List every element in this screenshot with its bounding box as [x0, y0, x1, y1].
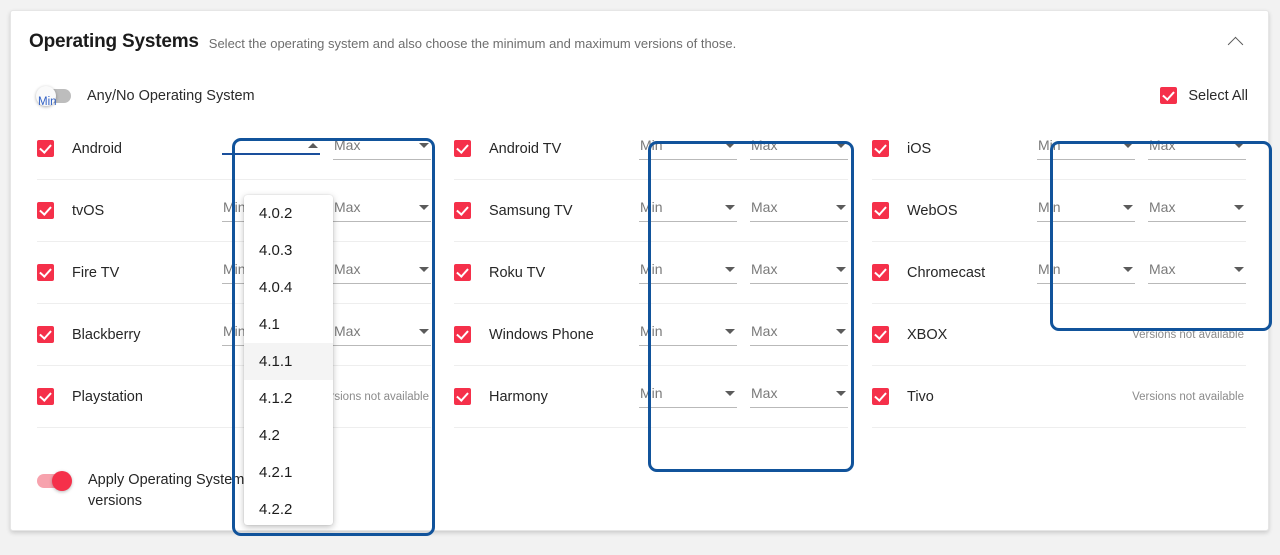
os-row: ChromecastMinMax [872, 242, 1246, 304]
os-columns: AndroidMinMaxtvOSMinMaxFire TVMinMaxBlac… [11, 118, 1268, 530]
os-column-1: AndroidMinMaxtvOSMinMaxFire TVMinMaxBlac… [37, 118, 431, 428]
min-version-placeholder: Min [640, 137, 663, 153]
min-version-select[interactable]: Min [639, 261, 737, 284]
chevron-down-icon [725, 143, 735, 148]
any-no-os-label: Any/No Operating System [87, 88, 255, 104]
os-checkbox-blackberry[interactable] [37, 326, 54, 343]
os-row: HarmonyMinMax [454, 366, 848, 428]
chevron-down-icon [836, 329, 846, 334]
max-version-select[interactable]: Max [750, 199, 848, 222]
chevron-down-icon [725, 391, 735, 396]
chevron-down-icon [836, 391, 846, 396]
min-version-placeholder: Min [640, 323, 663, 339]
dropdown-option[interactable]: 4.2.1 [244, 454, 333, 491]
os-row-controls: Versions not available [1132, 329, 1246, 341]
page-subtitle: Select the operating system and also cho… [209, 33, 736, 51]
os-row-controls: MinMax [639, 137, 848, 160]
chevron-down-icon [419, 143, 429, 148]
os-row: WebOSMinMax [872, 180, 1246, 242]
os-label: Blackberry [72, 327, 141, 343]
operating-systems-card: Operating Systems Select the operating s… [10, 10, 1269, 531]
os-checkbox-webos[interactable] [872, 202, 889, 219]
max-version-placeholder: Max [1149, 199, 1175, 215]
min-version-select[interactable]: Min [639, 137, 737, 160]
max-version-placeholder: Max [1149, 261, 1175, 277]
os-row-controls: MinMax [639, 199, 848, 222]
max-version-placeholder: Max [751, 137, 777, 153]
os-row: Android TVMinMax [454, 118, 848, 180]
dropdown-option[interactable]: 4.0.4 [244, 269, 333, 306]
dropdown-option[interactable]: 4.1.2 [244, 380, 333, 417]
os-label: Roku TV [489, 265, 545, 281]
os-row-controls: Versions not available [1132, 391, 1246, 403]
chevron-up-icon [308, 143, 318, 148]
os-checkbox-xbox[interactable] [872, 326, 889, 343]
toggle-knob [52, 471, 72, 491]
dropdown-option[interactable]: 4.2.2 [244, 491, 333, 525]
versions-not-available-text: Versions not available [1132, 391, 1246, 403]
os-row: PlaystationVersions not available [37, 366, 431, 428]
os-row-controls: MinMax [1037, 137, 1246, 160]
os-checkbox-windows-phone[interactable] [454, 326, 471, 343]
toolbar: Any/No Operating System Select All [11, 73, 1268, 118]
dropdown-option[interactable]: 4.0.2 [244, 195, 333, 232]
os-checkbox-roku-tv[interactable] [454, 264, 471, 281]
apply-os-versions-toggle[interactable] [37, 474, 71, 488]
os-label: Android TV [489, 141, 561, 157]
min-version-select[interactable]: Min [1037, 261, 1135, 284]
card-header: Operating Systems Select the operating s… [11, 11, 1268, 73]
page-title: Operating Systems [29, 31, 199, 53]
os-label: tvOS [72, 203, 104, 219]
max-version-select[interactable]: Max [333, 199, 431, 222]
chevron-down-icon [1123, 205, 1133, 210]
os-label: iOS [907, 141, 931, 157]
versions-not-available-text: Versions not available [317, 391, 431, 403]
min-version-placeholder: Min [223, 199, 246, 215]
os-label: Samsung TV [489, 203, 573, 219]
select-all-checkbox[interactable] [1160, 87, 1177, 104]
collapse-section-button[interactable] [1222, 29, 1248, 55]
chevron-down-icon [1234, 267, 1244, 272]
os-label: Playstation [72, 389, 143, 405]
min-version-placeholder: Min [640, 261, 663, 277]
versions-not-available-text: Versions not available [1132, 329, 1246, 341]
min-version-placeholder: Min [1038, 137, 1061, 153]
os-label: Windows Phone [489, 327, 594, 343]
min-version-placeholder: Min [223, 261, 246, 277]
apply-os-versions-label: Apply Operating System versions [88, 470, 248, 512]
os-row: Fire TVMinMax [37, 242, 431, 304]
max-version-placeholder: Max [334, 137, 360, 153]
os-label: XBOX [907, 327, 947, 343]
os-row-controls: MinMax [639, 385, 848, 408]
min-version-select[interactable]: Min [639, 199, 737, 222]
chevron-down-icon [1234, 205, 1244, 210]
max-version-placeholder: Max [334, 323, 360, 339]
chevron-down-icon [419, 205, 429, 210]
chevron-down-icon [725, 329, 735, 334]
chevron-up-icon [1227, 36, 1243, 52]
chevron-down-icon [419, 329, 429, 334]
os-row-controls: Versions not available [317, 391, 431, 403]
max-version-placeholder: Max [751, 261, 777, 277]
os-checkbox-android-tv[interactable] [454, 140, 471, 157]
min-version-select[interactable]: Min [639, 385, 737, 408]
os-row: BlackberryMinMax [37, 304, 431, 366]
min-version-placeholder: Min [1038, 261, 1061, 277]
os-row: TivoVersions not available [872, 366, 1246, 428]
os-column-2: Android TVMinMaxSamsung TVMinMaxRoku TVM… [454, 118, 848, 428]
os-checkbox-playstation[interactable] [37, 388, 54, 405]
os-checkbox-tvos[interactable] [37, 202, 54, 219]
os-label: Fire TV [72, 265, 119, 281]
os-checkbox-ios[interactable] [872, 140, 889, 157]
os-row: XBOXVersions not available [872, 304, 1246, 366]
os-label: Android [72, 141, 122, 157]
max-version-select[interactable]: Max [750, 323, 848, 346]
select-all-label: Select All [1188, 88, 1248, 104]
max-version-select[interactable]: Max [1148, 137, 1246, 160]
os-checkbox-chromecast[interactable] [872, 264, 889, 281]
min-version-field-label: Min [38, 96, 57, 108]
os-row: iOSMinMax [872, 118, 1246, 180]
min-version-select[interactable]: Min [1037, 137, 1135, 160]
chevron-down-icon [836, 143, 846, 148]
os-row: tvOSMinMax [37, 180, 431, 242]
max-version-select[interactable]: Max [750, 385, 848, 408]
os-row: AndroidMinMax [37, 118, 431, 180]
os-row-controls: MinMax [639, 323, 848, 346]
chevron-down-icon [725, 267, 735, 272]
chevron-down-icon [419, 267, 429, 272]
chevron-down-icon [1123, 143, 1133, 148]
min-version-select[interactable]: Min [222, 143, 320, 155]
os-checkbox-android[interactable] [37, 140, 54, 157]
max-version-placeholder: Max [1149, 137, 1175, 153]
os-row: Roku TVMinMax [454, 242, 848, 304]
os-row: Windows PhoneMinMax [454, 304, 848, 366]
max-version-select[interactable]: Max [333, 323, 431, 346]
os-label: Tivo [907, 389, 934, 405]
os-checkbox-harmony[interactable] [454, 388, 471, 405]
min-version-placeholder: Min [640, 385, 663, 401]
select-all-control[interactable]: Select All [1160, 87, 1248, 104]
max-version-placeholder: Max [751, 323, 777, 339]
max-version-select[interactable]: Max [333, 261, 431, 284]
max-version-placeholder: Max [334, 199, 360, 215]
min-version-placeholder: Min [223, 323, 246, 339]
chevron-down-icon [1123, 267, 1133, 272]
min-version-placeholder: Min [1038, 199, 1061, 215]
max-version-placeholder: Max [751, 199, 777, 215]
dropdown-option[interactable]: 4.0.3 [244, 232, 333, 269]
max-version-placeholder: Max [751, 385, 777, 401]
os-label: WebOS [907, 203, 958, 219]
os-row-controls: MinMax [1037, 199, 1246, 222]
min-version-placeholder: Min [640, 199, 663, 215]
os-row: Samsung TVMinMax [454, 180, 848, 242]
max-version-select[interactable]: Max [750, 261, 848, 284]
min-version-select[interactable]: Min [1037, 199, 1135, 222]
chevron-down-icon [1234, 143, 1244, 148]
chevron-down-icon [725, 205, 735, 210]
min-version-select[interactable]: Min [639, 323, 737, 346]
os-label: Chromecast [907, 265, 985, 281]
min-version-dropdown[interactable]: 4.0.24.0.34.0.44.14.1.14.1.24.24.2.14.2.… [244, 195, 333, 525]
max-version-select[interactable]: Max [333, 137, 431, 160]
os-row-controls: MinMax [222, 137, 431, 160]
max-version-select[interactable]: Max [1148, 261, 1246, 284]
chevron-down-icon [836, 205, 846, 210]
os-checkbox-tivo[interactable] [872, 388, 889, 405]
dropdown-option[interactable]: 4.1.1 [244, 343, 333, 380]
dropdown-option[interactable]: 4.1 [244, 306, 333, 343]
dropdown-option[interactable]: 4.2 [244, 417, 333, 454]
os-checkbox-samsung-tv[interactable] [454, 202, 471, 219]
os-row-controls: MinMax [1037, 261, 1246, 284]
max-version-select[interactable]: Max [1148, 199, 1246, 222]
max-version-select[interactable]: Max [750, 137, 848, 160]
os-checkbox-fire-tv[interactable] [37, 264, 54, 281]
chevron-down-icon [836, 267, 846, 272]
os-label: Harmony [489, 389, 548, 405]
max-version-placeholder: Max [334, 261, 360, 277]
os-row-controls: MinMax [639, 261, 848, 284]
os-column-3: iOSMinMaxWebOSMinMaxChromecastMinMaxXBOX… [872, 118, 1246, 428]
